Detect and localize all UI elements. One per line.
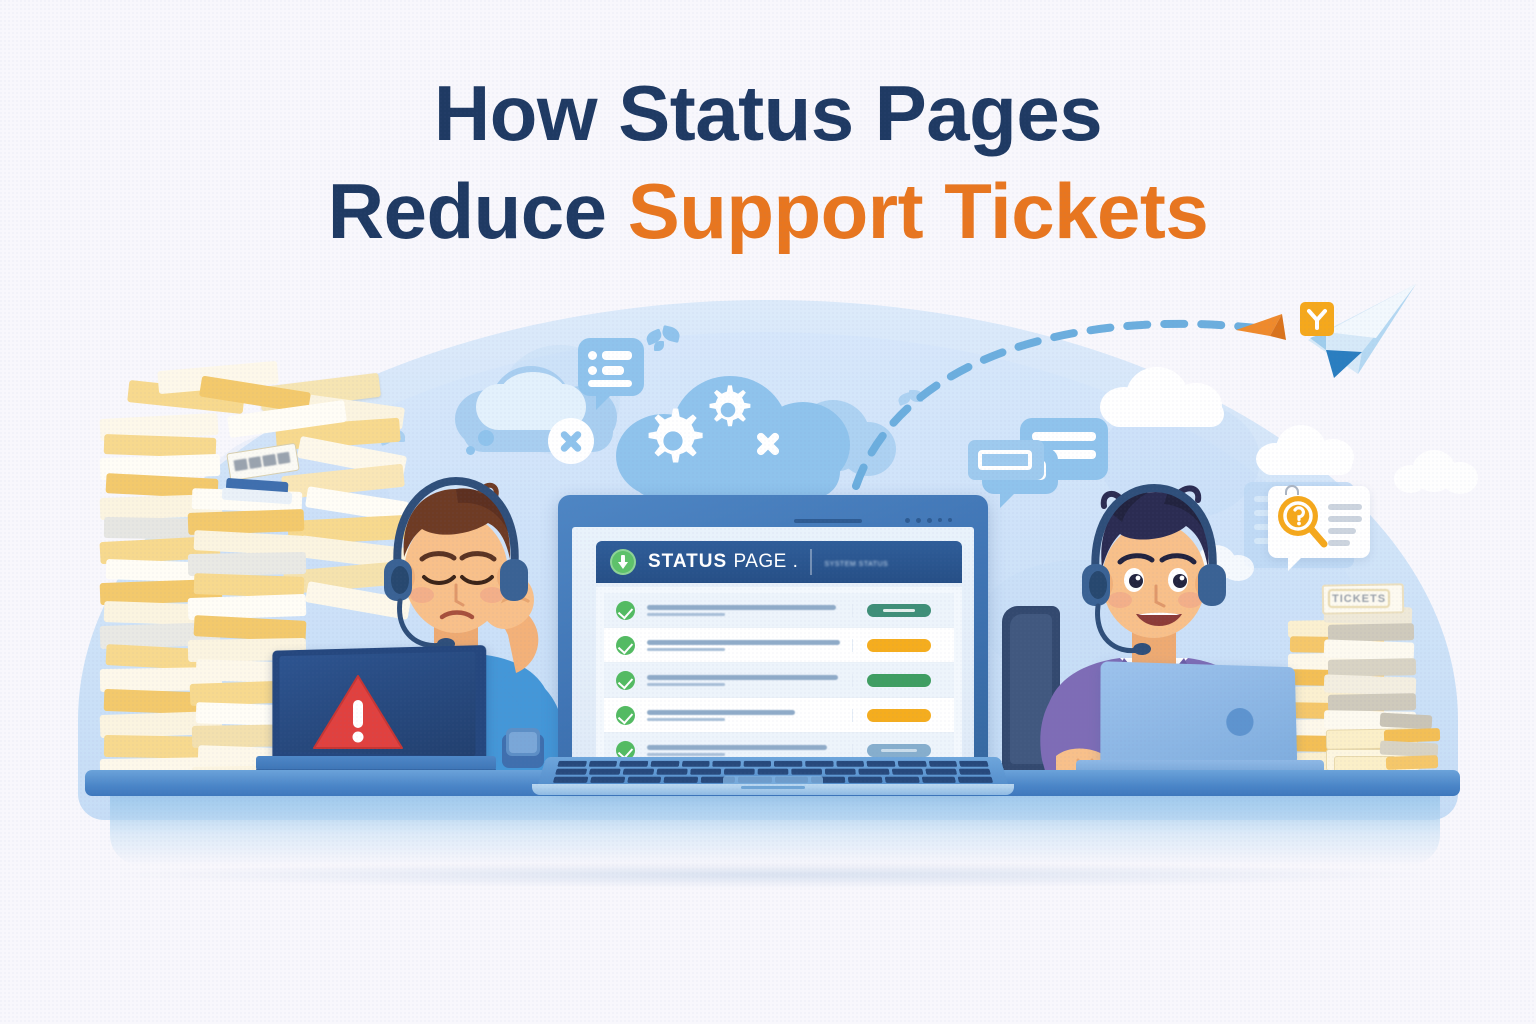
status-row-name-bar (647, 710, 795, 715)
status-page-meta: SYSTEM STATUS (824, 553, 948, 571)
status-row-name-bar (647, 605, 836, 610)
status-row-sub-bar (647, 718, 725, 721)
magnifier-question-icon (1276, 494, 1330, 550)
status-row[interactable] (604, 628, 954, 663)
laptop-camera-slot (794, 519, 862, 523)
card-clip-icon (1285, 485, 1299, 495)
status-row-sub-bar (647, 753, 725, 756)
status-row-state-cell (852, 674, 944, 687)
x-close-icon (748, 424, 788, 464)
status-badge-text-bar (883, 609, 915, 612)
status-page-meta-text: SYSTEM STATUS (824, 561, 888, 568)
status-row-list (604, 593, 954, 768)
laptop-screen: STATUS PAGE . SYSTEM STATUS (572, 527, 974, 777)
status-row-label (647, 745, 852, 756)
right-laptop (1076, 664, 1316, 784)
headline-line-2-prefix: Reduce (328, 167, 628, 255)
cloud-tail (466, 446, 475, 455)
check-circle-icon (616, 601, 635, 620)
illustration-canvas: TICKETS STATUS PAGE . SYSTEM STATUS (0, 0, 1536, 1024)
page-title: How Status Pages Reduce Support Tickets (0, 74, 1536, 250)
sparkle-icon (646, 325, 682, 353)
status-page-body (596, 587, 962, 771)
status-row-sub-bar (647, 648, 725, 651)
status-row-state-cell (852, 709, 944, 722)
laptop-base (528, 757, 1018, 795)
paper-plane-icon (1230, 278, 1430, 398)
cloud-tail (478, 430, 494, 446)
desk-shadow (120, 862, 1420, 888)
headline-line-2-accent: Support Tickets (628, 167, 1209, 255)
status-row-name-bar (647, 640, 840, 645)
status-row[interactable] (604, 593, 954, 628)
header-divider (810, 549, 812, 575)
download-circle-icon (610, 549, 636, 575)
ticket-stack: TICKETS (1288, 584, 1488, 784)
headline-line-1: How Status Pages (0, 74, 1536, 152)
status-page-title-bold: STATUS (648, 551, 727, 572)
status-row-name-bar (647, 675, 838, 680)
laptop-bezel (572, 503, 974, 525)
gear-icon (636, 404, 710, 478)
status-row-sub-bar (647, 683, 725, 686)
status-row-label (647, 710, 852, 721)
status-row-sub-bar (647, 613, 725, 616)
status-badge (867, 709, 931, 722)
cloud-icon (1394, 450, 1480, 492)
check-circle-icon (616, 706, 635, 725)
status-page-laptop: STATUS PAGE . SYSTEM STATUS (528, 495, 1018, 795)
status-page-title: STATUS PAGE . (648, 551, 798, 573)
warning-triangle-icon (312, 672, 404, 754)
status-page-header: STATUS PAGE . SYSTEM STATUS (596, 541, 962, 583)
status-row-label (647, 605, 852, 616)
status-page-title-thin: PAGE . (733, 551, 798, 572)
status-badge (867, 639, 931, 652)
check-circle-icon (616, 636, 635, 655)
desk-reflection (110, 795, 1440, 865)
tickets-label: TICKETS (1328, 589, 1390, 608)
status-row-state-cell (852, 639, 944, 652)
status-badge (867, 604, 931, 617)
laptop-logo-icon (1226, 708, 1253, 736)
status-row-label (647, 675, 852, 686)
check-circle-icon (616, 671, 635, 690)
headline-line-2: Reduce Support Tickets (0, 172, 1536, 250)
speech-bubble-icon (578, 338, 644, 396)
status-row-state-cell (852, 604, 944, 617)
laptop-sensor-dots (905, 518, 952, 523)
status-badge-text-bar (881, 749, 917, 752)
status-row[interactable] (604, 698, 954, 733)
laptop-latch-notch (741, 786, 805, 789)
status-row-state-cell (852, 744, 944, 757)
status-row-label (647, 640, 852, 651)
cloud-highlight (500, 372, 566, 416)
status-row-name-bar (647, 745, 827, 750)
status-badge (867, 744, 931, 757)
status-badge (867, 674, 931, 687)
status-row[interactable] (604, 663, 954, 698)
